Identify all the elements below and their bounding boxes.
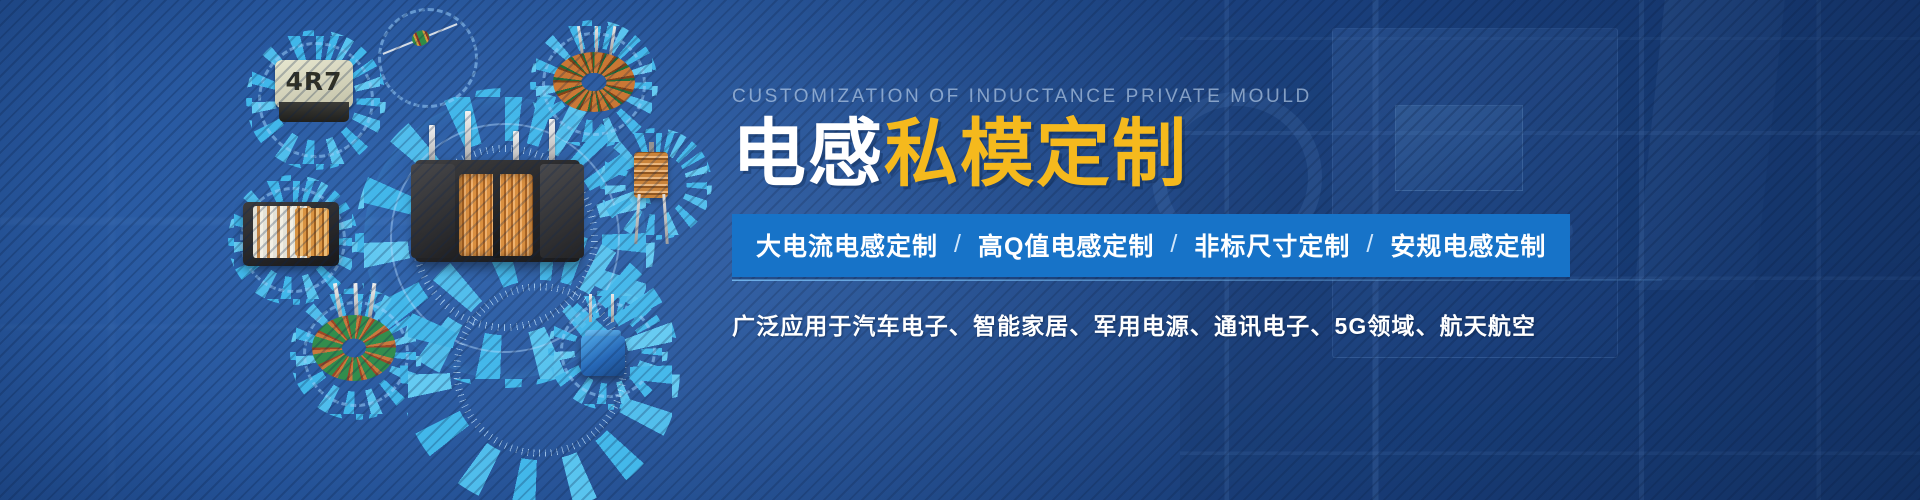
transformer-bracket-right	[540, 164, 584, 258]
feature-separator-1: /	[954, 230, 962, 259]
rod-coil	[634, 152, 668, 198]
blue-component-leg-left	[589, 294, 592, 322]
feature-item-3[interactable]: 非标尺寸定制	[1194, 227, 1350, 263]
banner-eyebrow-text: CUSTOMIZATION OF INDUCTANCE PRIVATE MOUL…	[732, 86, 1672, 108]
feature-bar[interactable]: 大电流电感定制 / 高Q值电感定制 / 非标尺寸定制 / 安规电感定制	[732, 214, 1570, 277]
blue-component-body	[581, 336, 625, 376]
feature-separator-2: /	[1170, 230, 1178, 259]
transformer-bracket-left	[411, 164, 455, 258]
banner-headline: 电感私模定制	[732, 116, 1672, 194]
smd-base	[279, 102, 349, 122]
green-toroid-legs	[334, 283, 376, 319]
rod-leg-left	[634, 194, 640, 244]
blue-component-leg-right	[611, 294, 614, 322]
feature-item-1[interactable]: 大电流电感定制	[756, 227, 938, 263]
choke-winding-copper	[295, 208, 329, 256]
banner-text-block: CUSTOMIZATION OF INDUCTANCE PRIVATE MOUL…	[732, 86, 1672, 341]
feature-bar-underline	[732, 279, 1662, 281]
feature-item-4[interactable]: 安规电感定制	[1390, 227, 1546, 263]
background-workshop-photo-left	[0, 0, 470, 500]
feature-item-2[interactable]: 高Q值电感定制	[978, 227, 1154, 263]
product-copper-choke-left	[243, 196, 339, 268]
feature-bar-row: 大电流电感定制 / 高Q值电感定制 / 非标尺寸定制 / 安规电感定制	[756, 227, 1546, 263]
feature-separator-3: /	[1366, 230, 1374, 259]
axial-bead	[410, 28, 432, 49]
banner-tagline: 广泛应用于汽车电子、智能家居、军用电源、通讯电子、5G领域、航天航空	[732, 307, 1672, 341]
product-toroidal-common-mode-choke	[553, 52, 635, 112]
product-smd-power-inductor: 4R7	[275, 60, 353, 122]
green-toroid-core	[312, 315, 396, 381]
product-main-transformer-cluster	[415, 112, 580, 262]
toroid-core	[553, 52, 635, 112]
transformer-center-divider	[493, 172, 500, 258]
smd-marking-code: 4R7	[275, 67, 353, 96]
headline-yellow-part: 私模定制	[884, 111, 1188, 197]
product-rod-core-choke	[618, 146, 684, 244]
headline-white-part: 电感	[732, 111, 884, 197]
hero-banner: 4R7 CU	[0, 0, 1920, 500]
rod-leg-right	[662, 194, 668, 244]
product-green-toroidal-inductor	[312, 315, 396, 381]
product-blue-radial-inductor	[573, 318, 629, 384]
